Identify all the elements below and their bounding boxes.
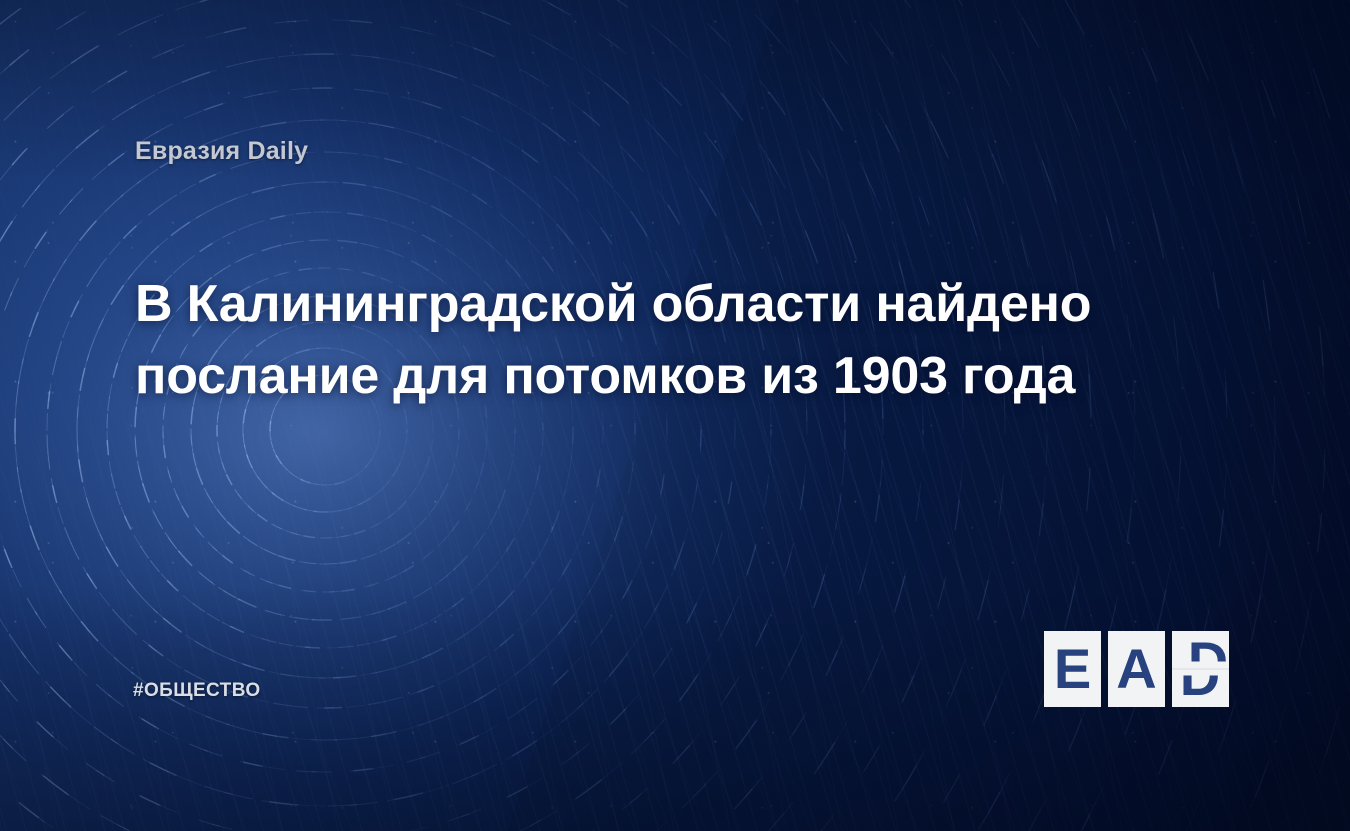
category-hashtag: #ОБЩЕСТВО bbox=[133, 680, 261, 702]
headline: В Калининградской области найдено послан… bbox=[135, 268, 1145, 412]
article-share-card: Евразия Daily В Калининградской области … bbox=[0, 0, 1350, 831]
card-content: Евразия Daily В Калининградской области … bbox=[0, 0, 1350, 831]
logo-letter-a: A bbox=[1116, 637, 1156, 700]
logo-tile-3-seam bbox=[1172, 668, 1229, 670]
eadaily-logo: E A D D bbox=[1044, 631, 1230, 707]
logo-letter-e: E bbox=[1054, 637, 1091, 700]
site-name: Евразия Daily bbox=[135, 137, 308, 166]
